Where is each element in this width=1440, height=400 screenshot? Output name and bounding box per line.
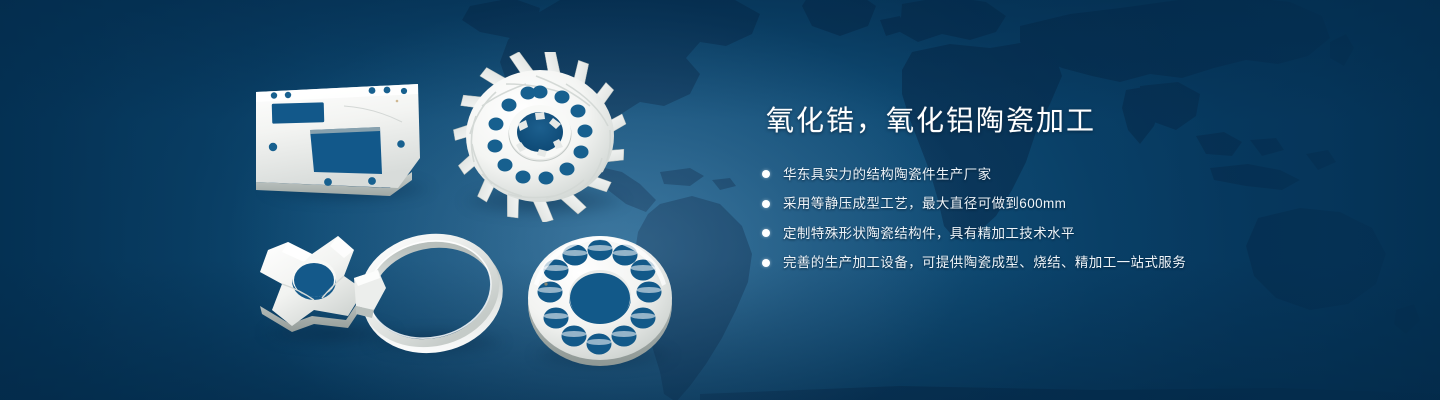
feature-text: 采用等静压成型工艺，最大直径可做到600mm — [783, 197, 1066, 211]
feature-text: 华东具实力的结构陶瓷件生产厂家 — [783, 168, 992, 182]
feature-text: 定制特殊形状陶瓷结构件，具有精加工技术水平 — [783, 227, 1075, 241]
ceramic-impeller — [452, 52, 628, 222]
bullet-dot-icon — [762, 170, 770, 178]
marketing-copy: 氧化锆，氧化铝陶瓷加工 华东具实力的结构陶瓷件生产厂家 采用等静压成型工艺，最大… — [762, 104, 1362, 270]
bullet-dot-icon — [762, 259, 770, 267]
list-item: 采用等静压成型工艺，最大直径可做到600mm — [762, 197, 1362, 211]
bullet-dot-icon — [762, 229, 770, 237]
page-title: 氧化锆，氧化铝陶瓷加工 — [766, 104, 1362, 138]
bullet-dot-icon — [762, 200, 770, 208]
ceramic-perforated-disc — [522, 228, 678, 370]
list-item: 华东具实力的结构陶瓷件生产厂家 — [762, 168, 1362, 182]
feature-list: 华东具实力的结构陶瓷件生产厂家 采用等静压成型工艺，最大直径可做到600mm 定… — [762, 168, 1362, 270]
list-item: 完善的生产加工设备，可提供陶瓷成型、烧结、精加工一站式服务 — [762, 256, 1362, 270]
ceramic-ring — [352, 226, 512, 358]
list-item: 定制特殊形状陶瓷结构件，具有精加工技术水平 — [762, 227, 1362, 241]
hero-banner: 氧化锆，氧化铝陶瓷加工 华东具实力的结构陶瓷件生产厂家 采用等静压成型工艺，最大… — [0, 0, 1440, 400]
product-photo-group — [0, 0, 740, 400]
ceramic-plate — [252, 82, 430, 200]
feature-text: 完善的生产加工设备，可提供陶瓷成型、烧结、精加工一站式服务 — [783, 256, 1186, 270]
